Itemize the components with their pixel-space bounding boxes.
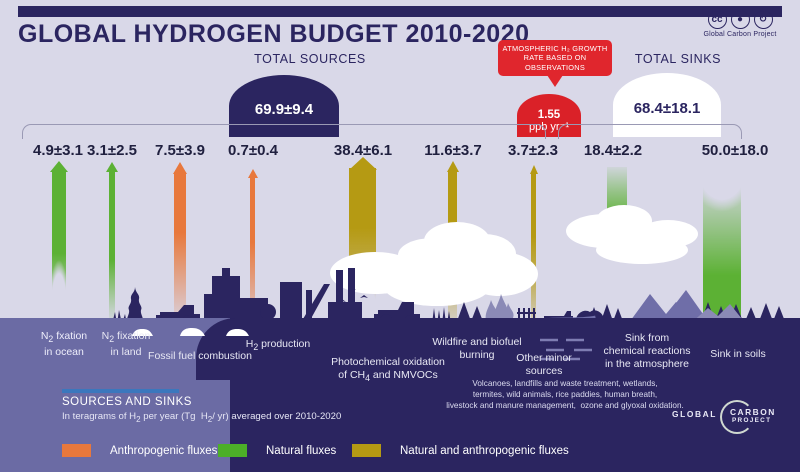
- gcp-footer-logo: GLOBAL CARBON PROJECT: [672, 400, 782, 432]
- label-sink-soils: Sink in soils: [690, 348, 786, 361]
- legend-item-anthropogenic: Anthropogenic fluxes: [62, 444, 217, 457]
- title-rule: [18, 6, 782, 17]
- creative-commons-logo: cc ● ↻ Global Carbon Project: [690, 10, 790, 38]
- cc-icon: cc: [708, 10, 727, 29]
- legend-item-both: Natural and anthropogenic fluxes: [352, 444, 569, 457]
- gcp-word-global: GLOBAL: [672, 409, 717, 419]
- legend-label-anthropogenic: Anthropogenic fluxes: [110, 445, 217, 457]
- caption-subheading: In teragrams of H2 per year (Tg H2/ yr) …: [62, 411, 341, 424]
- total-sinks-value: 68.4±18.1: [634, 100, 701, 117]
- fineprint-other-sources: Volcanoes, landfills and waste treatment…: [420, 378, 710, 411]
- legend-label-natural: Natural fluxes: [266, 445, 336, 457]
- growth-rate-value: 1.55: [538, 109, 560, 121]
- caption-rule: [62, 389, 179, 393]
- sinks-bracket: [558, 124, 742, 139]
- caption-heading: SOURCES AND SINKS: [62, 396, 192, 408]
- growth-rate-callout-text: ATMOSPHERIC H₂ GROWTH RATE BASED ON OBSE…: [501, 44, 609, 72]
- label-sink-chemical: Sink fromchemical reactionsin the atmosp…: [588, 332, 706, 371]
- legend-label-both: Natural and anthropogenic fluxes: [400, 445, 569, 457]
- legend-swatch-both: [352, 444, 392, 457]
- growth-rate-callout: ATMOSPHERIC H₂ GROWTH RATE BASED ON OBSE…: [498, 40, 612, 76]
- flux-value-7: 18.4±2.2: [558, 142, 668, 159]
- logo-caption: Global Carbon Project: [690, 31, 790, 38]
- total-sinks-label: TOTAL SINKS: [618, 52, 738, 66]
- legend-swatch-anthropogenic: [62, 444, 102, 457]
- label-h2-production: H2 production: [218, 338, 338, 354]
- flux-value-3: 0.7±0.4: [198, 142, 308, 159]
- gcp-word-carbon: CARBON: [730, 407, 776, 417]
- gcp-word-project: PROJECT: [732, 417, 771, 424]
- legend-swatch-natural: [218, 444, 258, 457]
- infographic-canvas: GLOBAL HYDROGEN BUDGET 2010-2020 cc ● ↻ …: [0, 0, 800, 472]
- page-title: GLOBAL HYDROGEN BUDGET 2010-2020: [18, 20, 530, 49]
- cc-sa-share-alike-icon: ↻: [754, 10, 773, 29]
- total-sources-label: TOTAL SOURCES: [240, 52, 380, 66]
- cc-by-person-icon: ●: [731, 10, 750, 29]
- legend-item-natural: Natural fluxes: [218, 444, 336, 457]
- total-sources-value: 69.9±9.4: [255, 101, 313, 118]
- flux-value-8: 50.0±18.0: [676, 142, 794, 159]
- sources-bracket: [22, 124, 546, 139]
- label-other-minor: Other minorsources: [496, 352, 592, 378]
